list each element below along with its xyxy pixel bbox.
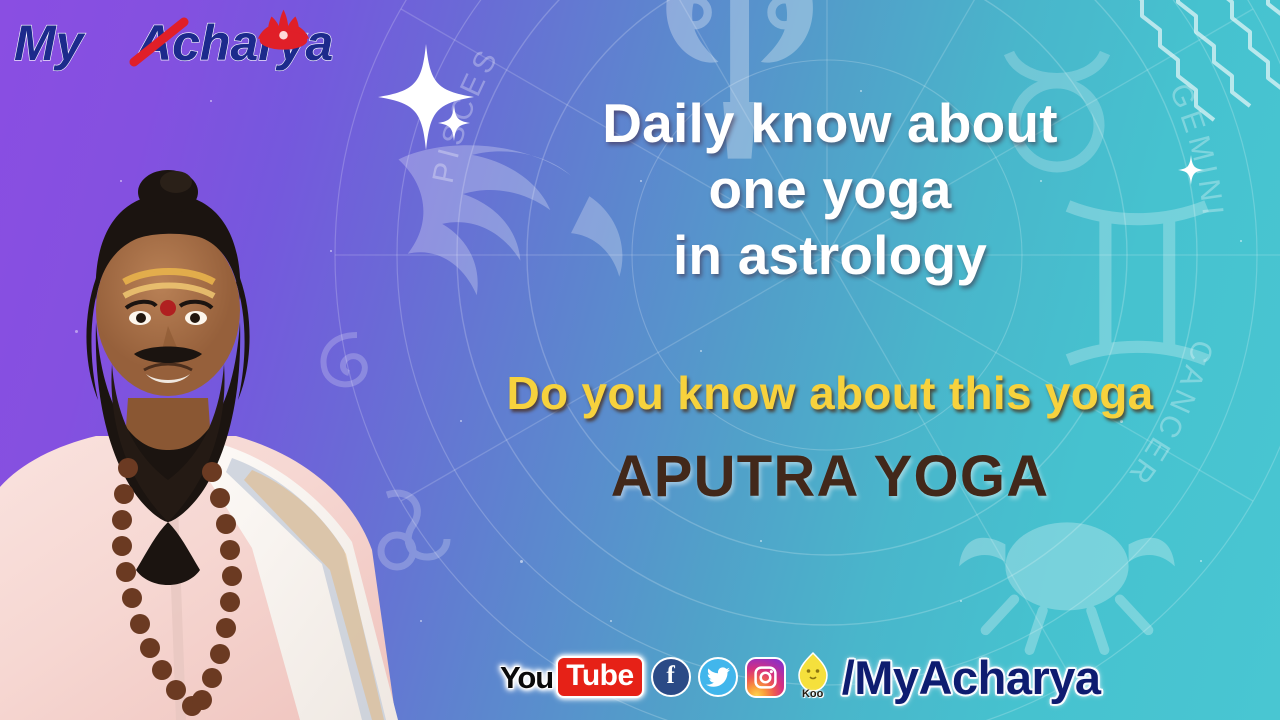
spiral-ornament (323, 335, 364, 384)
twitter-bird-glyph (706, 667, 730, 688)
yoga-name-title: APUTRA YOGA (380, 448, 1280, 506)
headline-text: Daily know about one yoga in astrology (430, 92, 1230, 287)
logo-text-my: My (14, 15, 86, 71)
video-thumbnail: PISCES ARIES TAURUS GEMINI CANCER (0, 0, 1280, 720)
subheadline-text: Do you know about this yoga (380, 370, 1280, 416)
instagram-icon[interactable] (745, 657, 786, 698)
instagram-camera-glyph (753, 665, 778, 690)
youtube-logo[interactable]: You Tube (500, 656, 644, 698)
facebook-icon[interactable]: f (651, 657, 691, 697)
facebook-f-glyph: f (667, 663, 675, 688)
rudraksha-mala (112, 458, 242, 716)
astrologer-portrait (0, 150, 460, 720)
brand-logo: My Acharya (8, 6, 328, 80)
headline-line-1: Daily know about (430, 92, 1230, 156)
youtube-tube-badge: Tube (556, 656, 643, 698)
koo-icon[interactable]: Koo (793, 651, 833, 703)
headline-line-3: in astrology (430, 224, 1230, 288)
social-bar: You Tube f Koo (500, 648, 1101, 706)
headline-line-2: one yoga (430, 158, 1230, 222)
twitter-icon[interactable] (698, 657, 738, 697)
cancer-symbol (959, 522, 1175, 650)
koo-bird-glyph (795, 651, 831, 693)
koo-label: Koo (802, 689, 823, 700)
youtube-you-text: You (500, 662, 553, 693)
channel-handle[interactable]: /MyAcharya (842, 654, 1101, 701)
